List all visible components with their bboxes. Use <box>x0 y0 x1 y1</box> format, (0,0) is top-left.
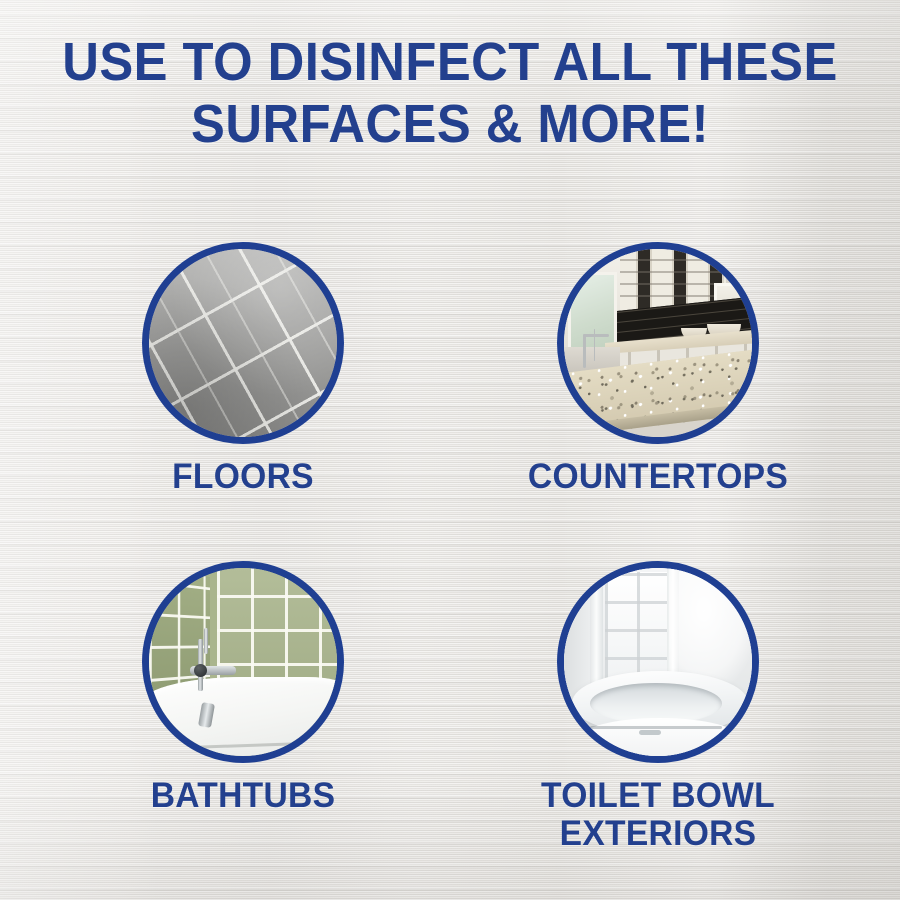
surfaces-infographic-poster: USE TO DISINFECT ALL THESE SURFACES & MO… <box>0 0 900 900</box>
toilet-seat-hinge <box>639 730 661 735</box>
page-headline: USE TO DISINFECT ALL THESE SURFACES & MO… <box>27 34 873 152</box>
bathroom-post-left <box>590 568 603 692</box>
surface-item-countertops: COUNTERTOPS <box>508 242 808 496</box>
toilet-photo-circle <box>557 561 759 763</box>
white-toilet-bowl-photo <box>564 568 752 756</box>
kitchen-faucet-arm <box>583 334 609 337</box>
kitchen-window <box>568 272 617 351</box>
headline-line-1: USE TO DISINFECT ALL THESE <box>27 34 873 90</box>
toilet-bowl-exterior-base <box>579 718 741 756</box>
gray-diagonal-tile-floor-photo <box>149 249 337 437</box>
floors-photo-circle <box>142 242 344 444</box>
white-bathtub-green-tile-photo <box>149 568 337 756</box>
shower-riser-pipe <box>204 628 208 654</box>
bathtubs-photo-circle <box>142 561 344 763</box>
floors-label: FLOORS <box>99 458 387 496</box>
toilet-bowl-exteriors-label: TOILET BOWL EXTERIORS <box>514 777 802 853</box>
kitchen-faucet <box>583 334 586 368</box>
headline-line-2: SURFACES & MORE! <box>27 96 873 152</box>
countertops-photo-circle <box>557 242 759 444</box>
surface-item-toilet-bowl-exteriors: TOILET BOWL EXTERIORS <box>508 561 808 853</box>
kitchen-cabinet-glass-shelves <box>620 255 725 308</box>
countertops-label: COUNTERTOPS <box>514 458 802 496</box>
bathtubs-label: BATHTUBS <box>99 777 387 815</box>
kitchen-granite-countertop-photo <box>564 249 752 437</box>
tile-lighting-shade <box>149 249 337 437</box>
surface-item-bathtubs: BATHTUBS <box>93 561 393 815</box>
bathtub-mixer-knob <box>194 664 207 677</box>
surface-item-floors: FLOORS <box>93 242 393 496</box>
toilet-seat-gap-line <box>590 726 722 729</box>
